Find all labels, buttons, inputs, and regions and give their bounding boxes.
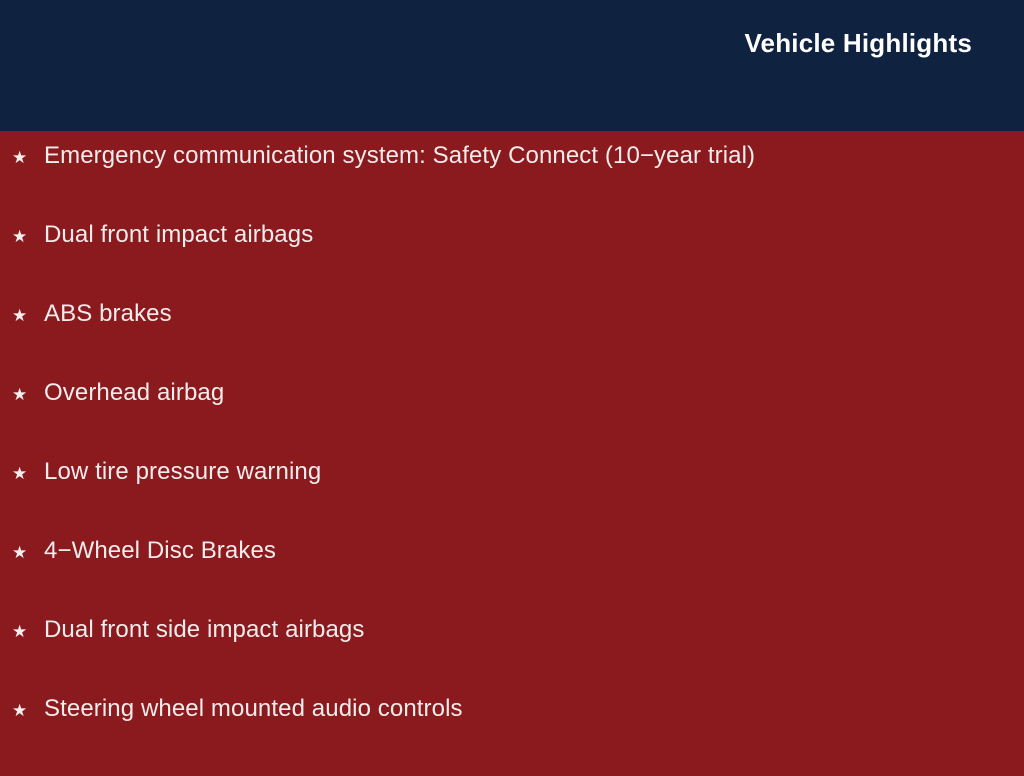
list-item-label: Steering wheel mounted audio controls	[44, 697, 463, 721]
star-bullet-icon: ★	[12, 702, 44, 719]
list-item: ★Steering wheel mounted audio controls	[0, 697, 1024, 776]
list-item: ★Dual front impact airbags	[0, 223, 1024, 302]
star-bullet-icon: ★	[12, 386, 44, 403]
list-item-label: Dual front side impact airbags	[44, 618, 364, 642]
list-item-label: Overhead airbag	[44, 381, 224, 405]
star-bullet-icon: ★	[12, 307, 44, 324]
list-item-label: Low tire pressure warning	[44, 460, 321, 484]
star-bullet-icon: ★	[12, 465, 44, 482]
list-item-label: Dual front impact airbags	[44, 223, 313, 247]
vehicle-highlights-slide: Vehicle Highlights ★Emergency communicat…	[0, 0, 1024, 768]
list-item: ★Dual front side impact airbags	[0, 618, 1024, 697]
star-bullet-icon: ★	[12, 544, 44, 561]
slide-header: Vehicle Highlights	[0, 0, 1024, 131]
highlights-list: ★Emergency communication system: Safety …	[0, 144, 1024, 776]
list-item-label: 4−Wheel Disc Brakes	[44, 539, 276, 563]
list-item: ★4−Wheel Disc Brakes	[0, 539, 1024, 618]
star-bullet-icon: ★	[12, 623, 44, 640]
page-title: Vehicle Highlights	[744, 30, 972, 56]
list-item: ★Low tire pressure warning	[0, 460, 1024, 539]
list-item-label: ABS brakes	[44, 302, 172, 326]
list-item: ★Overhead airbag	[0, 381, 1024, 460]
star-bullet-icon: ★	[12, 228, 44, 245]
highlights-body: ★Emergency communication system: Safety …	[0, 131, 1024, 776]
list-item: ★Emergency communication system: Safety …	[0, 144, 1024, 223]
list-item-label: Emergency communication system: Safety C…	[44, 144, 755, 168]
list-item: ★ABS brakes	[0, 302, 1024, 381]
star-bullet-icon: ★	[12, 149, 44, 166]
